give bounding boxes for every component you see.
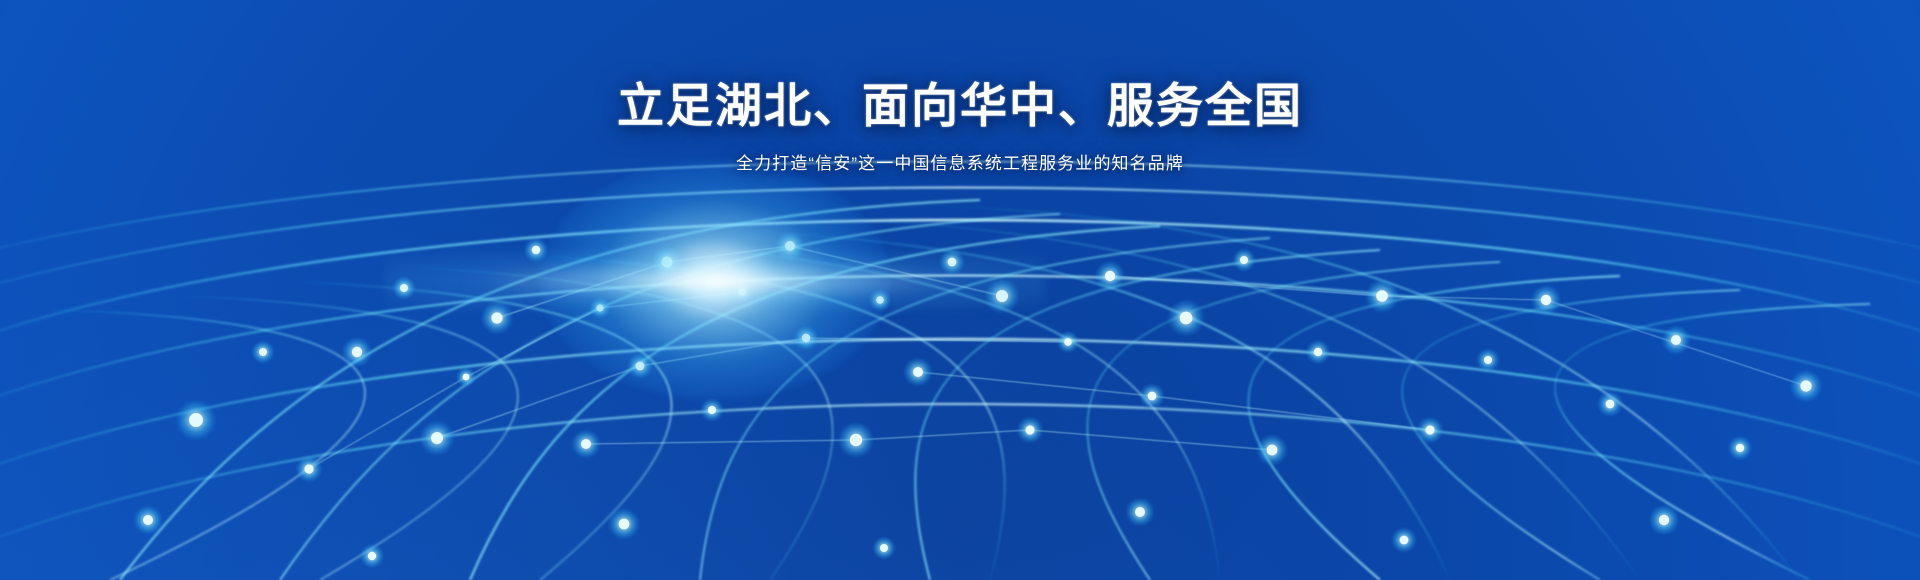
network-nodes: [133, 231, 1823, 569]
network-node: [368, 552, 376, 560]
network-node: [1484, 356, 1492, 364]
network-node: [1240, 256, 1248, 264]
network-node: [1425, 425, 1434, 434]
network-node: [913, 367, 923, 377]
page-title: 立足湖北、面向华中、服务全国: [0, 78, 1920, 133]
network-node: [143, 515, 153, 525]
network-node: [876, 296, 884, 304]
network-node: [1606, 400, 1615, 409]
network-node: [1148, 392, 1157, 401]
network-node: [581, 439, 591, 449]
network-node: [1541, 295, 1551, 305]
network-node: [850, 434, 862, 446]
network-node: [400, 284, 408, 292]
network-node: [1376, 290, 1388, 302]
banner-text-block: 立足湖北、面向华中、服务全国 全力打造“信安”这一中国信息系统工程服务业的知名品…: [0, 78, 1920, 174]
network-node: [619, 519, 630, 530]
network-node: [1064, 338, 1072, 346]
network-node: [948, 258, 957, 267]
network-node: [1025, 425, 1034, 434]
network-node: [596, 304, 603, 311]
network-node: [880, 544, 888, 552]
network-node: [1800, 380, 1811, 391]
network-node: [996, 290, 1008, 302]
network-node: [1736, 444, 1744, 452]
network-node: [259, 348, 267, 356]
network-node: [532, 246, 540, 254]
hero-banner: 立足湖北、面向华中、服务全国 全力打造“信安”这一中国信息系统工程服务业的知名品…: [0, 0, 1920, 580]
network-node: [1400, 536, 1409, 545]
network-node: [1671, 335, 1681, 345]
network-node: [189, 413, 203, 427]
network-node: [785, 241, 795, 251]
network-node: [1180, 312, 1193, 325]
network-node: [636, 362, 645, 371]
network-node: [1659, 515, 1669, 525]
network-node: [802, 334, 810, 342]
network-node: [431, 432, 443, 444]
network-node: [738, 288, 745, 295]
network-node: [463, 374, 470, 381]
network-node: [708, 406, 716, 414]
network-node: [1135, 507, 1145, 517]
network-node: [1105, 271, 1115, 281]
network-node: [1267, 445, 1278, 456]
network-node: [491, 312, 502, 323]
network-node: [304, 464, 313, 473]
page-subtitle: 全力打造“信安”这一中国信息系统工程服务业的知名品牌: [0, 149, 1920, 174]
network-node: [352, 347, 362, 357]
network-node: [662, 257, 673, 268]
network-node: [1314, 348, 1322, 356]
